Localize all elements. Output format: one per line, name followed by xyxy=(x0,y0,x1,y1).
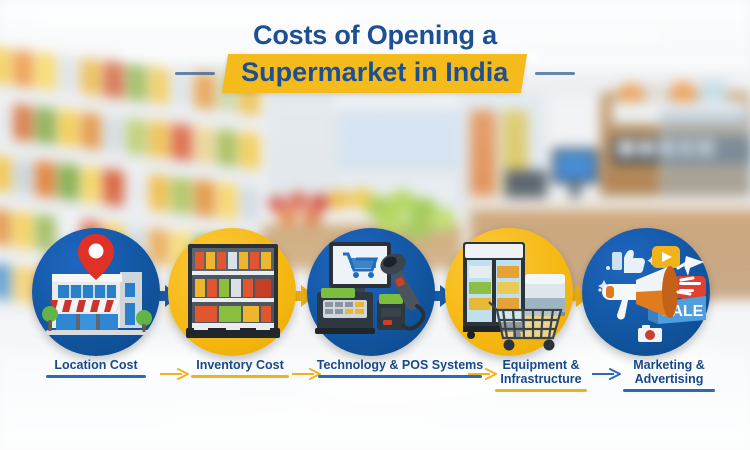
label-text-line-2: Advertising xyxy=(614,372,724,386)
page-title-line-2: Supermarket in India xyxy=(242,57,509,88)
label-marketing-advertising[interactable]: Marketing & Advertising xyxy=(614,358,724,392)
page-title-line-1: Costs of Opening a xyxy=(0,20,750,51)
horizontal-rule-right-icon xyxy=(535,72,575,75)
label-underline xyxy=(46,375,146,378)
label-text: Technology & POS Systems xyxy=(310,358,490,372)
infographic-canvas: Costs of Opening a Supermarket in India xyxy=(0,0,750,450)
storefront-location-icon xyxy=(32,228,160,356)
label-underline xyxy=(495,389,587,392)
title-highlight-band: Supermarket in India xyxy=(222,54,527,93)
step-circle-equipment-infrastructure[interactable] xyxy=(445,228,573,356)
step-circle-inventory-cost[interactable] xyxy=(168,228,296,356)
store-equipment-icon xyxy=(445,228,573,356)
label-equipment-infrastructure[interactable]: Equipment & Infrastructure xyxy=(486,358,596,392)
horizontal-rule-left-icon xyxy=(175,72,215,75)
label-text-line-1: Marketing & xyxy=(614,358,724,372)
label-text: Location Cost xyxy=(30,358,162,372)
label-text: Inventory Cost xyxy=(180,358,300,372)
stocked-shelf-icon xyxy=(168,228,296,356)
process-steps: SALE xyxy=(0,228,750,358)
label-underline xyxy=(191,375,289,378)
title-block: Costs of Opening a Supermarket in India xyxy=(0,20,750,93)
label-text-line-1: Equipment & xyxy=(486,358,596,372)
label-inventory-cost[interactable]: Inventory Cost xyxy=(180,358,300,378)
pos-technology-icon xyxy=(307,228,435,356)
step-circle-location-cost[interactable] xyxy=(32,228,160,356)
label-text-line-2: Infrastructure xyxy=(486,372,596,386)
step-circle-marketing-advertising[interactable]: SALE xyxy=(582,228,710,356)
marketing-megaphone-icon: SALE xyxy=(582,228,710,356)
step-labels-row: Location Cost Inventory Cost Technology … xyxy=(0,358,750,414)
label-technology-pos-systems[interactable]: Technology & POS Systems xyxy=(310,358,490,378)
label-underline xyxy=(623,389,715,392)
step-circle-technology-pos[interactable] xyxy=(307,228,435,356)
label-location-cost[interactable]: Location Cost xyxy=(30,358,162,378)
label-underline xyxy=(318,375,482,378)
